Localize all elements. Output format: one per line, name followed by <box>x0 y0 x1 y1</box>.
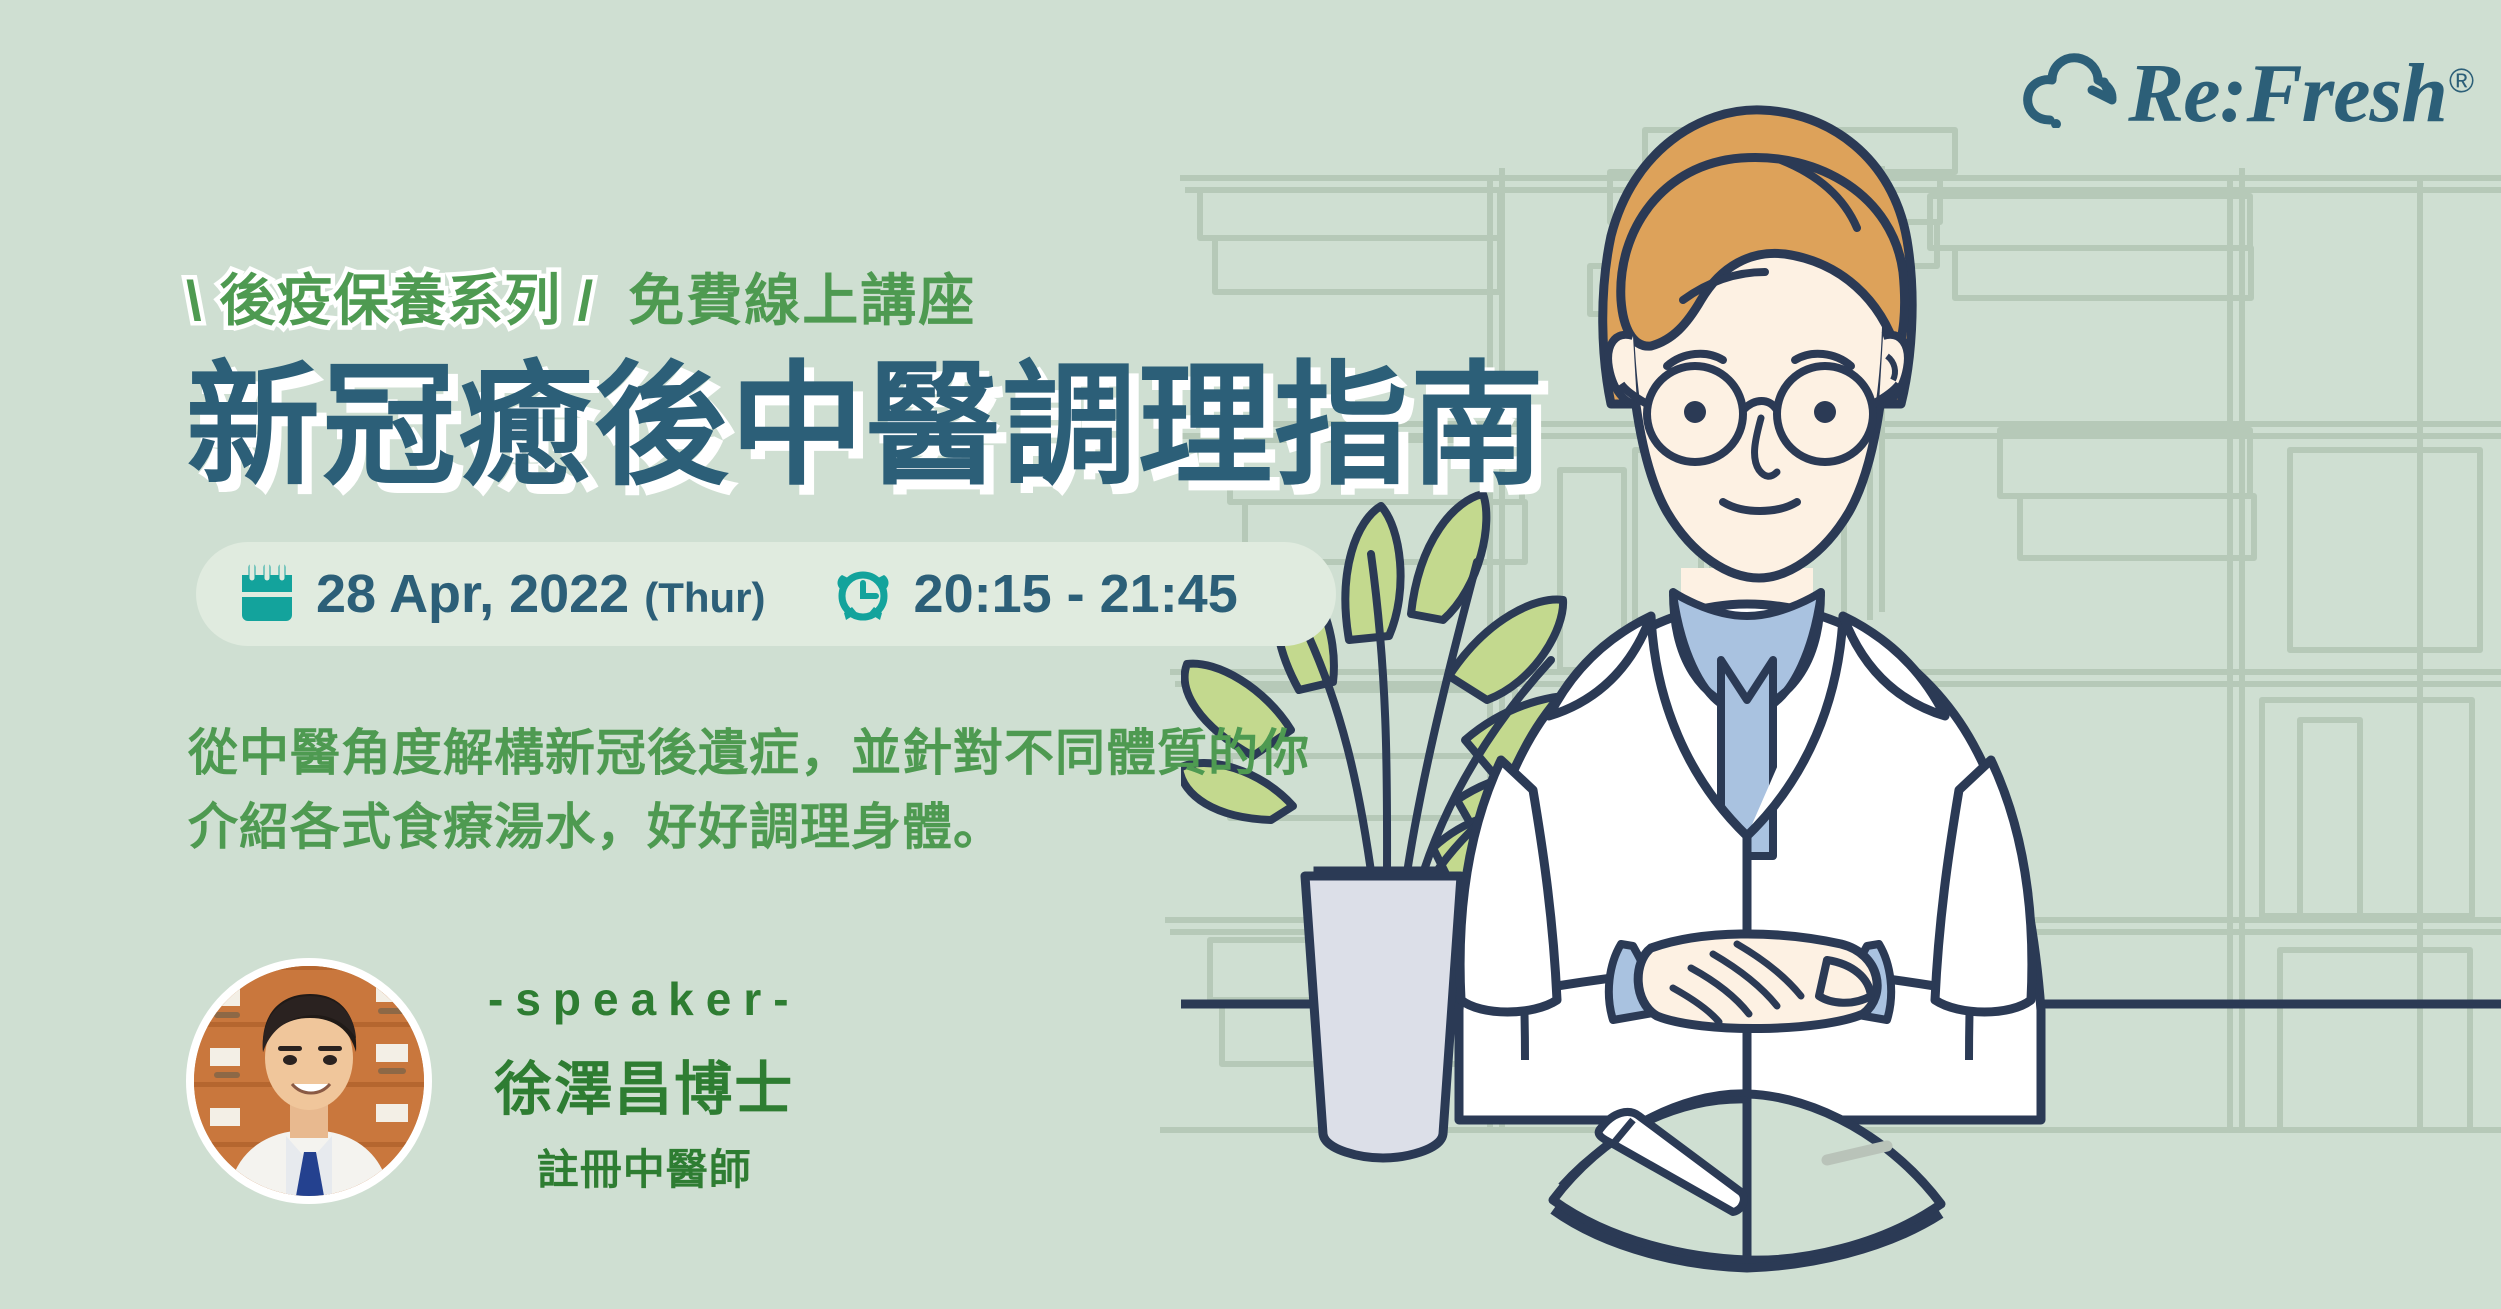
avatar <box>186 958 432 1204</box>
speaker-role-label: -speaker- <box>488 972 801 1026</box>
date-group: 28 Apr, 2022 (Thur) <box>238 563 766 625</box>
description-line-2: 介紹各式食療湯水，好好調理身體。 <box>188 790 1368 864</box>
date-text: 28 Apr, 2022 (Thur) <box>316 563 766 625</box>
logo-wordmark: Re:Fresh® <box>2128 54 2473 134</box>
date-value: 28 Apr, 2022 <box>316 564 629 624</box>
speaker-name: 徐澤昌博士 <box>488 1042 801 1126</box>
eyebrow-row: \ 後疫保養系列 / 免費線上講座 <box>186 256 976 337</box>
hands <box>1638 934 1877 1029</box>
description-line-1: 從中醫角度解構新冠後遺症，並針對不同體質的你 <box>188 716 1368 790</box>
open-book-icon <box>1553 1094 1941 1268</box>
cloud-refresh-icon <box>2020 48 2124 128</box>
webinar-banner: Re:Fresh® \ 後疫保養系列 / 免費線上講座 新冠癒後中醫調理指南 <box>0 0 2501 1309</box>
speaker-title: 註冊中醫師 <box>488 1136 801 1197</box>
weekday-value: (Thur) <box>644 574 765 621</box>
pen-icon <box>1599 1112 1744 1212</box>
content-column: \ 後疫保養系列 / 免費線上講座 新冠癒後中醫調理指南 28 Apr, 202… <box>0 0 1420 1309</box>
free-webinar-label: 免費線上講座 <box>628 256 976 337</box>
time-group: 20:15 - 21:45 <box>832 563 1238 625</box>
speaker-block: -speaker- 徐澤昌博士 註冊中醫師 <box>186 958 801 1204</box>
refresh-logo[interactable]: Re:Fresh® <box>2020 26 2473 134</box>
calendar-icon <box>238 563 296 625</box>
speaker-photo <box>194 966 424 1196</box>
logo-text-value: Re:Fresh <box>2128 47 2447 140</box>
registered-trademark-icon: ® <box>2449 62 2473 100</box>
datetime-pill: 28 Apr, 2022 (Thur) 20:15 - 21:45 <box>196 542 1336 646</box>
series-tag: \ 後疫保養系列 / <box>186 256 594 337</box>
speaker-meta: -speaker- 徐澤昌博士 註冊中醫師 <box>488 966 801 1197</box>
page-title: 新冠癒後中醫調理指南 <box>186 357 1546 498</box>
glasses-icon <box>1621 366 1899 462</box>
alarm-clock-icon <box>832 563 894 625</box>
description-text: 從中醫角度解構新冠後遺症，並針對不同體質的你 介紹各式食療湯水，好好調理身體。 <box>188 716 1368 864</box>
time-text: 20:15 - 21:45 <box>914 563 1238 625</box>
